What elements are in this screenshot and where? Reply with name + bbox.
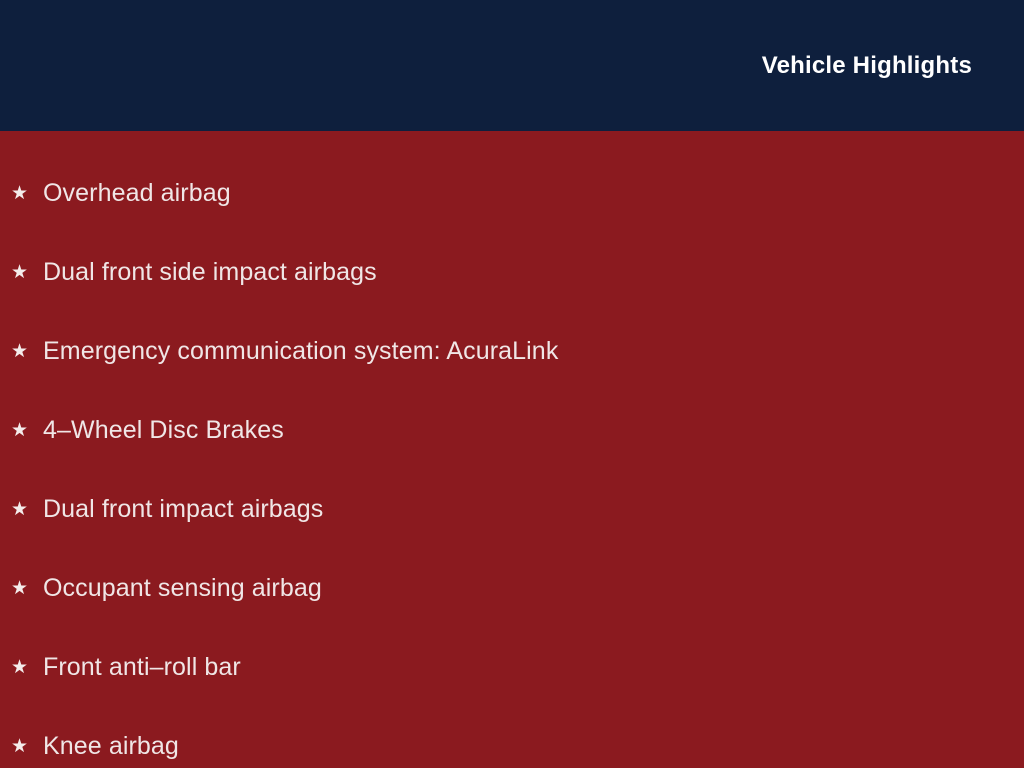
list-item: ★ 4–Wheel Disc Brakes: [0, 391, 1024, 470]
list-item: ★ Front anti–roll bar: [0, 628, 1024, 707]
slide-header: Vehicle Highlights: [0, 0, 1024, 131]
star-bullet-icon: ★: [11, 342, 43, 361]
list-item-label: Dual front impact airbags: [43, 495, 323, 524]
vehicle-highlights-slide: Vehicle Highlights ★ Overhead airbag ★ D…: [0, 0, 1024, 768]
list-item-label: Dual front side impact airbags: [43, 258, 377, 287]
star-bullet-icon: ★: [11, 658, 43, 677]
list-item: ★ Emergency communication system: AcuraL…: [0, 312, 1024, 391]
star-bullet-icon: ★: [11, 579, 43, 598]
list-item: ★ Overhead airbag: [0, 154, 1024, 233]
list-item: ★ Dual front impact airbags: [0, 470, 1024, 549]
list-item-label: Front anti–roll bar: [43, 653, 241, 682]
star-bullet-icon: ★: [11, 184, 43, 203]
list-item-label: Emergency communication system: AcuraLin…: [43, 337, 558, 366]
star-bullet-icon: ★: [11, 263, 43, 282]
star-bullet-icon: ★: [11, 500, 43, 519]
list-item-label: Knee airbag: [43, 732, 179, 761]
list-item: ★ Knee airbag: [0, 707, 1024, 768]
list-item-label: 4–Wheel Disc Brakes: [43, 416, 284, 445]
list-item-label: Overhead airbag: [43, 179, 231, 208]
list-item: ★ Dual front side impact airbags: [0, 233, 1024, 312]
star-bullet-icon: ★: [11, 421, 43, 440]
star-bullet-icon: ★: [11, 737, 43, 756]
list-item-label: Occupant sensing airbag: [43, 574, 322, 603]
page-title: Vehicle Highlights: [762, 54, 972, 78]
vehicle-highlights-list: ★ Overhead airbag ★ Dual front side impa…: [0, 131, 1024, 768]
list-item: ★ Occupant sensing airbag: [0, 549, 1024, 628]
